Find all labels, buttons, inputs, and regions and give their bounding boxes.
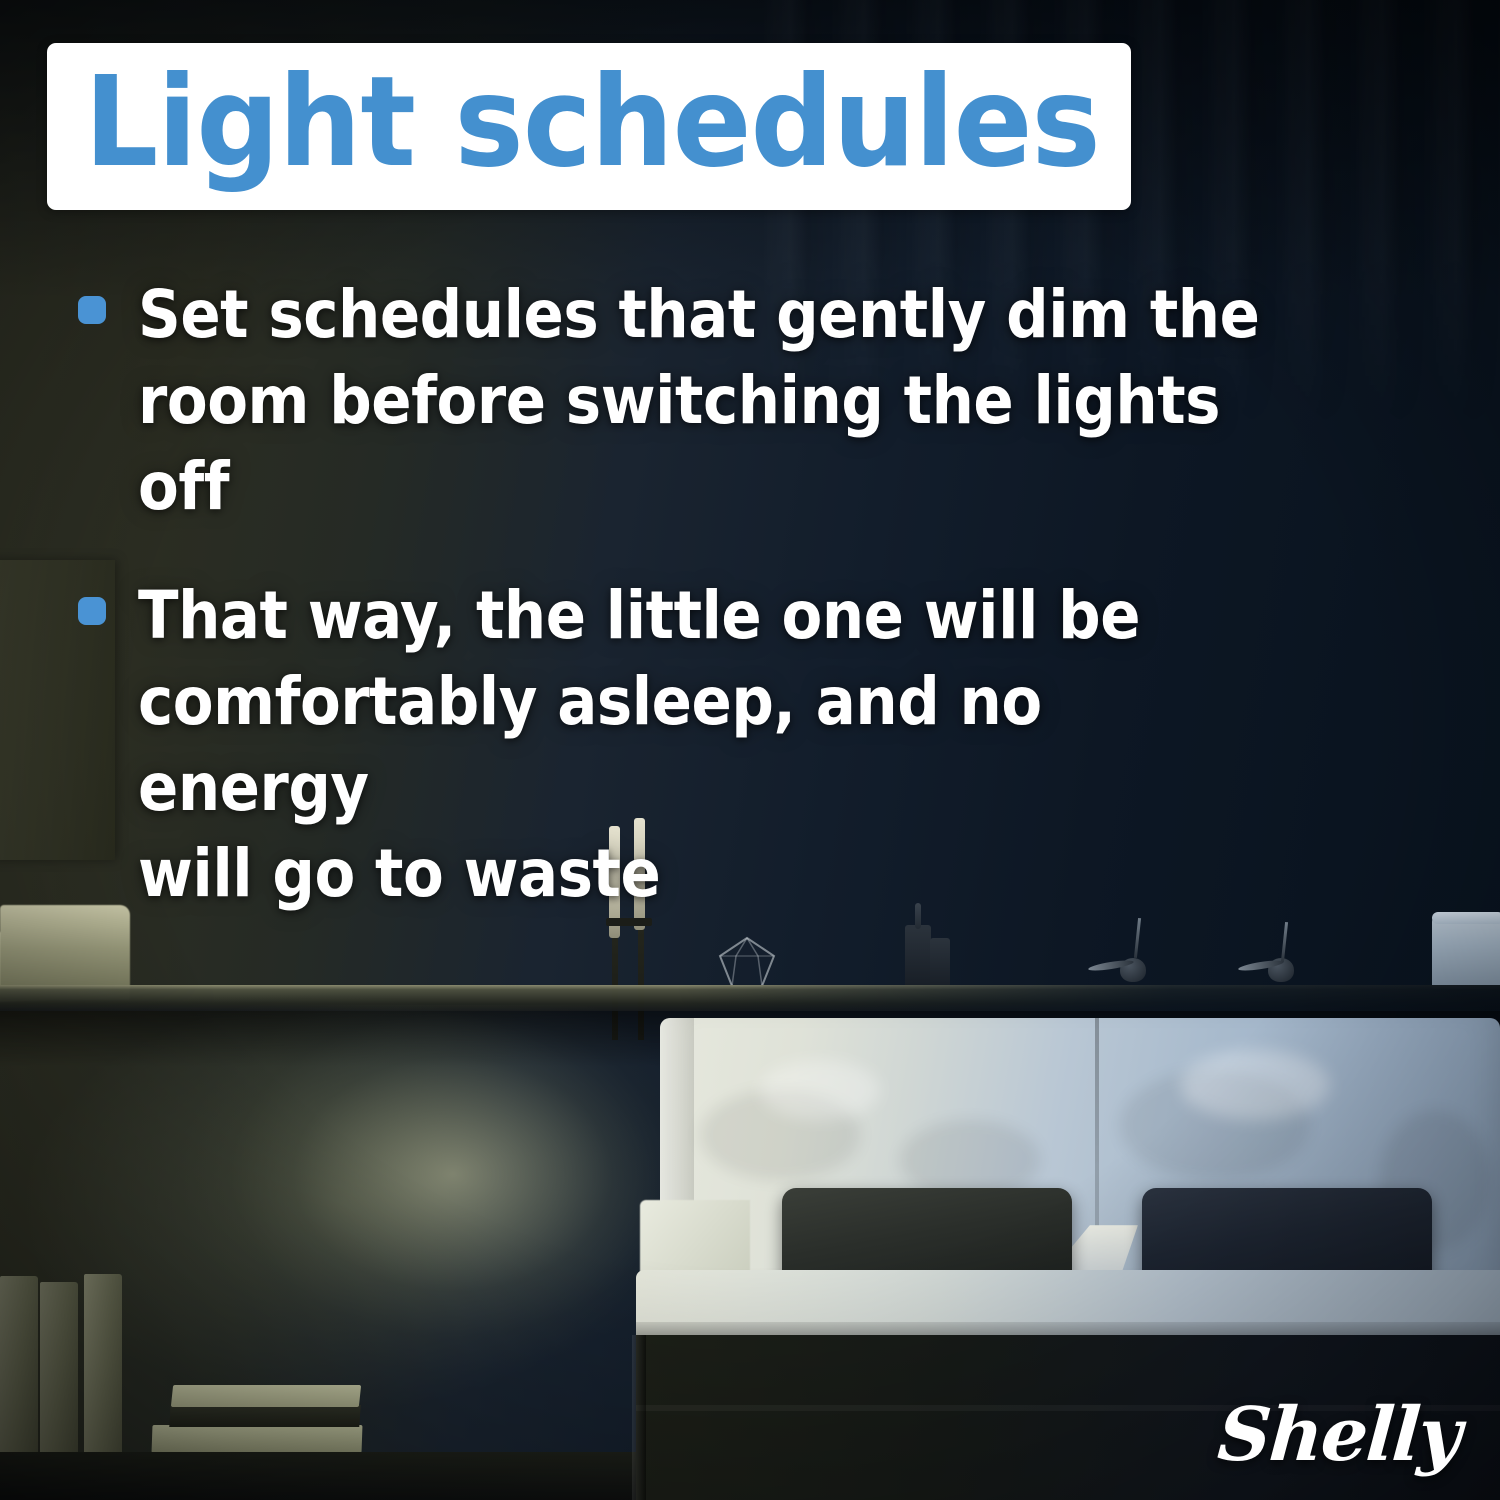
promo-graphic: Light schedules Set schedules that gentl… xyxy=(0,0,1500,1500)
book-upright-2 xyxy=(40,1282,78,1452)
lower-shelf xyxy=(0,1452,700,1500)
list-item: That way, the little one will be comfort… xyxy=(78,573,1408,916)
book-upright-3 xyxy=(84,1274,122,1452)
book-stack-middle xyxy=(169,1405,361,1427)
book-stack-bottom xyxy=(152,1425,363,1453)
headboard-highlight-1 xyxy=(760,1060,880,1120)
book-upright-1 xyxy=(0,1276,38,1452)
canister-lid xyxy=(1432,912,1500,924)
square-bullet-icon xyxy=(78,597,106,625)
book-stack-top xyxy=(171,1385,361,1407)
square-bullet-icon xyxy=(78,296,106,324)
list-item-text: Set schedules that gently dim the room b… xyxy=(138,272,1281,529)
title-card: Light schedules xyxy=(47,43,1131,210)
canister xyxy=(1432,915,1500,989)
bullet-list: Set schedules that gently dim the room b… xyxy=(78,272,1408,961)
list-item-text: That way, the little one will be comfort… xyxy=(138,573,1281,916)
page-title: Light schedules xyxy=(47,60,1100,185)
list-item: Set schedules that gently dim the room b… xyxy=(78,272,1408,529)
shelly-logo: Shelly xyxy=(1215,1392,1463,1478)
headboard-highlight-2 xyxy=(1180,1050,1330,1120)
bed-left-rail xyxy=(632,1335,646,1500)
